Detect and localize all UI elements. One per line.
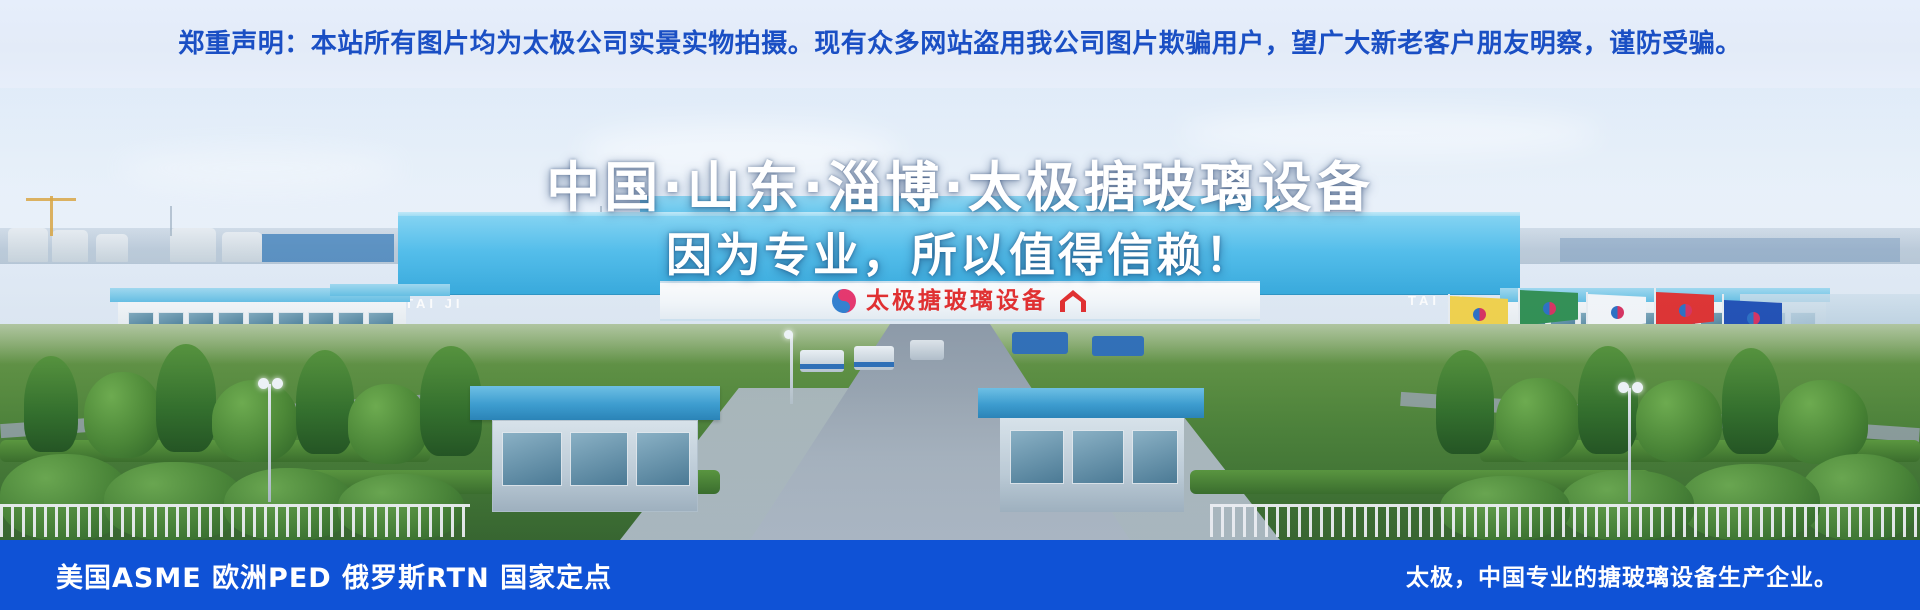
storage-tank bbox=[8, 228, 48, 262]
wall-label-tai-ji-left: TAI JI bbox=[405, 296, 463, 311]
tree bbox=[84, 372, 162, 458]
tree bbox=[348, 384, 428, 464]
gatehouse-window bbox=[636, 432, 690, 486]
tree bbox=[212, 380, 298, 462]
utility-pole bbox=[170, 206, 172, 236]
construction-crane bbox=[26, 198, 76, 201]
tree bbox=[296, 350, 354, 454]
street-lamp-pole bbox=[268, 384, 271, 502]
gatehouse-roof-right bbox=[978, 388, 1204, 418]
building-sign-board: 太极搪玻璃设备 bbox=[660, 281, 1260, 321]
cloud bbox=[580, 123, 900, 177]
construction-crane bbox=[50, 196, 53, 236]
perimeter-fence bbox=[1210, 504, 1920, 537]
perimeter-fence bbox=[0, 504, 470, 537]
bus-stripe bbox=[800, 364, 844, 369]
taiji-yinyang-logo bbox=[832, 289, 856, 313]
flag-taiji-emblem bbox=[1679, 304, 1692, 317]
street-lamp-pole bbox=[1628, 388, 1631, 502]
red-arch-gate-icon bbox=[1058, 289, 1088, 313]
flag-taiji-emblem bbox=[1747, 312, 1760, 325]
bottom-blue-bar: 美国ASME 欧洲PED 俄罗斯RTN 国家定点 太极，中国专业的搪玻璃设备生产… bbox=[0, 540, 1920, 610]
cloud bbox=[120, 148, 400, 188]
parked-bus bbox=[910, 340, 944, 360]
far-building bbox=[1560, 238, 1900, 262]
tree bbox=[1722, 348, 1780, 454]
gatehouse-window bbox=[1072, 430, 1124, 484]
storage-tank bbox=[170, 228, 216, 262]
flag-taiji-emblem bbox=[1473, 308, 1486, 321]
blue-tanker-truck bbox=[1092, 336, 1144, 356]
gatehouse-window bbox=[570, 432, 628, 486]
lamp-head bbox=[1632, 382, 1643, 393]
tree bbox=[1636, 380, 1722, 462]
left-wing-roof bbox=[330, 284, 450, 296]
factory-photo: TAI JI TAI JI 太极搪玻璃设备 bbox=[0, 88, 1920, 540]
tree bbox=[24, 356, 78, 452]
tree bbox=[156, 344, 216, 452]
gatehouse-roof-left bbox=[470, 386, 720, 420]
blue-tanker-truck bbox=[1012, 332, 1068, 354]
tree bbox=[1778, 380, 1868, 464]
tree bbox=[1496, 378, 1580, 462]
top-notice-bar: 郑重声明：本站所有图片均为太极公司实景实物拍摄。现有众多网站盗用我公司图片欺骗用… bbox=[0, 0, 1920, 88]
certification-text: 美国ASME 欧洲PED 俄罗斯RTN 国家定点 bbox=[56, 540, 612, 610]
storage-tank bbox=[52, 230, 88, 262]
flag-taiji-emblem bbox=[1543, 302, 1556, 315]
lamp-head bbox=[784, 330, 793, 339]
tree bbox=[1436, 350, 1494, 454]
cloud bbox=[1180, 110, 1600, 156]
building-sign-text: 太极搪玻璃设备 bbox=[866, 290, 1048, 313]
gatehouse-window bbox=[502, 432, 562, 486]
gatehouse-window bbox=[1132, 430, 1178, 484]
notice-text: 郑重声明：本站所有图片均为太极公司实景实物拍摄。现有众多网站盗用我公司图片欺骗用… bbox=[178, 31, 1742, 57]
lamp-head bbox=[1618, 382, 1629, 393]
bus-stripe bbox=[854, 362, 894, 367]
banner-stage: 郑重声明：本站所有图片均为太极公司实景实物拍摄。现有众多网站盗用我公司图片欺骗用… bbox=[0, 0, 1920, 610]
street-lamp-pole bbox=[790, 334, 793, 404]
lamp-head bbox=[258, 378, 269, 389]
storage-tank bbox=[96, 234, 128, 262]
storage-tank bbox=[222, 232, 262, 262]
slogan-text: 太极，中国专业的搪玻璃设备生产企业。 bbox=[1406, 540, 1838, 610]
far-building bbox=[262, 234, 394, 262]
gatehouse-window bbox=[1010, 430, 1064, 484]
flag-taiji-emblem bbox=[1611, 306, 1624, 319]
lamp-head bbox=[272, 378, 283, 389]
